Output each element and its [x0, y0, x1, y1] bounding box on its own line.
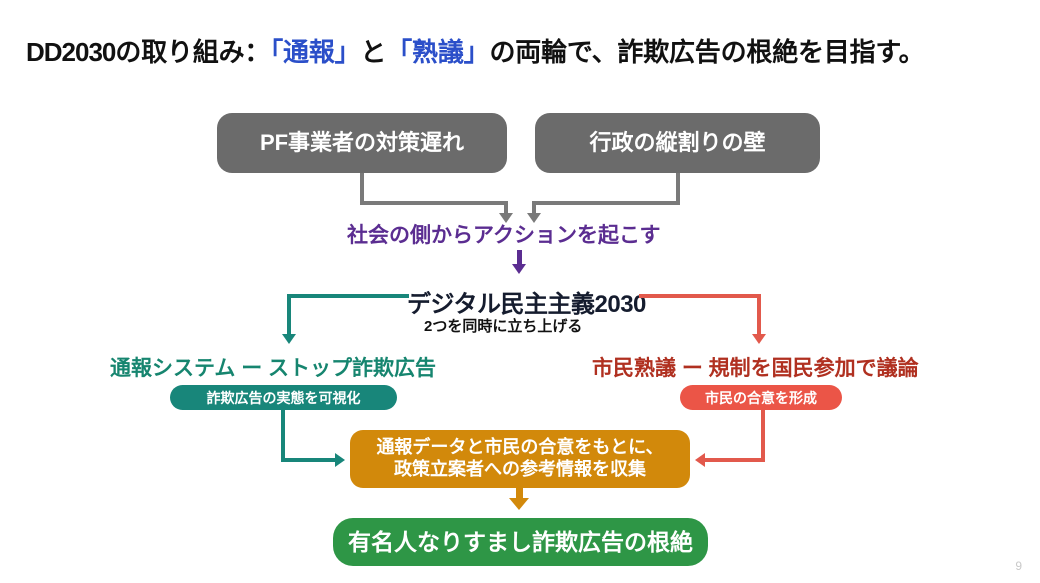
title-part1: の取り組み：: [115, 37, 270, 67]
title-highlight-tsuhou: 「通報」: [270, 37, 360, 67]
title-middle: と: [360, 37, 386, 67]
problem-box-administration: 行政の縦割りの壁: [535, 113, 820, 173]
title-part2: の両輪で、詐欺広告の根絶を目指す。: [489, 37, 924, 67]
left-branch-badge-label: 詐欺広告の実態を可視化: [207, 388, 361, 408]
center-subtitle: 2つを同時に立ち上げる: [424, 315, 582, 336]
slide-canvas: DD2030の取り組み：「通報」と「熟議」の両輪で、詐欺広告の根絶を目指す。 P…: [0, 0, 1040, 583]
left-branch-badge: 詐欺広告の実態を可視化: [170, 385, 397, 410]
problem-box-pf-operators: PF事業者の対策遅れ: [217, 113, 507, 173]
goal-box: 有名人なりすまし詐欺広告の根絶: [333, 518, 708, 566]
page-title: DD2030の取り組み：「通報」と「熟議」の両輪で、詐欺広告の根絶を目指す。: [26, 32, 924, 69]
goal-box-label: 有名人なりすまし詐欺広告の根絶: [348, 528, 693, 556]
page-number: 9: [1015, 559, 1022, 573]
right-branch-badge: 市民の合意を形成: [680, 385, 842, 410]
center-title: デジタル民主主義2030: [407, 284, 646, 319]
problem-box-label: 行政の縦割りの壁: [589, 130, 765, 157]
problem-box-label: PF事業者の対策遅れ: [260, 130, 464, 157]
right-branch-badge-label: 市民の合意を形成: [705, 388, 817, 408]
left-branch-title: 通報システム ー ストップ詐欺広告: [110, 352, 436, 382]
right-branch-title: 市民熟議 ー 規制を国民参加で議論: [592, 352, 919, 382]
title-brand: DD2030: [26, 37, 115, 67]
title-highlight-jukugi: 「熟議」: [386, 37, 489, 67]
collect-box-line2: 政策立案者への参考情報を収集: [394, 459, 646, 481]
action-statement: 社会の側からアクションを起こす: [347, 219, 661, 249]
collect-box-line1: 通報データと市民の合意をもとに、: [376, 437, 663, 459]
collect-box: 通報データと市民の合意をもとに、 政策立案者への参考情報を収集: [350, 430, 690, 488]
